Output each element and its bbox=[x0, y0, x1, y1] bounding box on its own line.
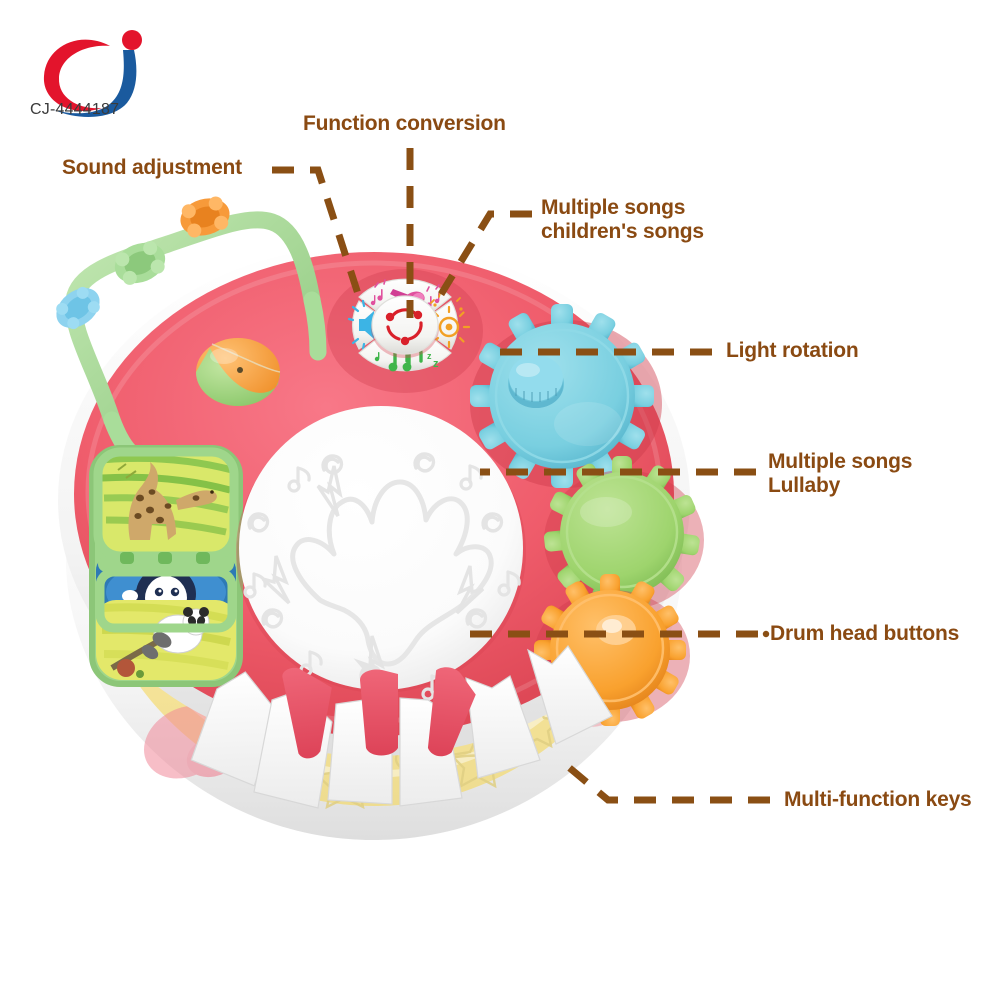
infographic-canvas: CJ-4444187 bbox=[0, 0, 1000, 1000]
svg-text:z: z bbox=[427, 351, 432, 361]
callout-sound-adjustment: Sound adjustment bbox=[62, 156, 242, 180]
callout-drum-head-buttons: Drum head buttons bbox=[770, 622, 959, 646]
red-keys[interactable] bbox=[282, 664, 479, 760]
callout-multi-function-keys: Multi-function keys bbox=[784, 788, 972, 812]
center-mode-button[interactable] bbox=[371, 296, 439, 358]
product-illustration: z z bbox=[0, 0, 1000, 1000]
callout-multiple-songs-lullaby: Multiple songs Lullaby bbox=[768, 450, 912, 497]
light-rotation-knob[interactable] bbox=[508, 355, 564, 408]
callout-light-rotation: Light rotation bbox=[726, 339, 859, 363]
orange-gear-bubble bbox=[596, 615, 636, 645]
callout-multiple-songs-children: Multiple songs children's songs bbox=[541, 196, 704, 243]
spin-ball[interactable] bbox=[196, 338, 280, 406]
callout-function-conversion: Function conversion bbox=[303, 112, 506, 136]
animal-flip-book[interactable] bbox=[92, 448, 240, 684]
svg-text:z: z bbox=[433, 358, 439, 370]
control-panel[interactable]: z z bbox=[327, 269, 483, 393]
